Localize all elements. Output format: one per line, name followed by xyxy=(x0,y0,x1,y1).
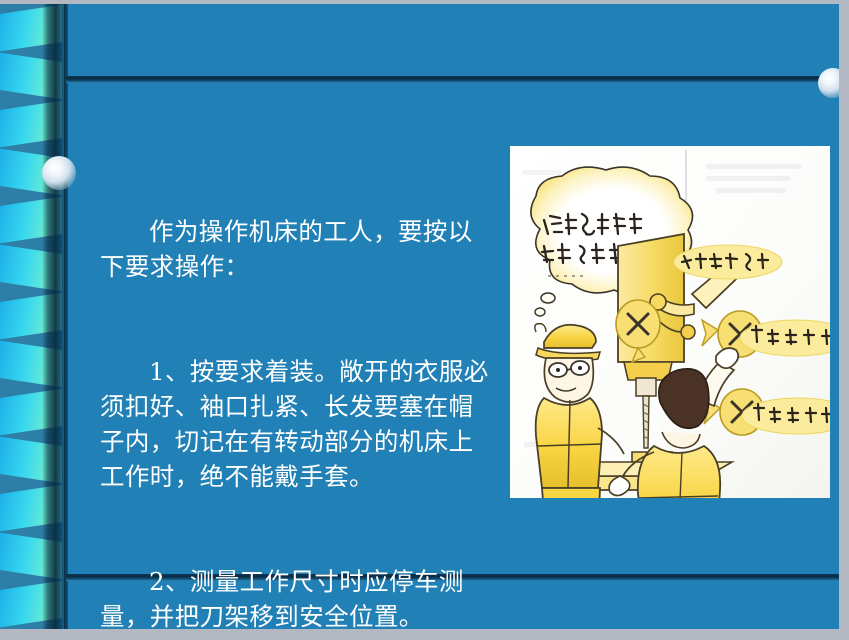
paragraph-rule-1: 1、按要求着装。敞开的衣服必须扣好、袖口扎紧、长发要塞在帽子内，切记在有转动部分… xyxy=(100,354,496,494)
ribbon-edge-line xyxy=(64,4,68,629)
left-orb-decoration xyxy=(42,156,76,190)
slide-body-text: 作为操作机床的工人，要按以下要求操作： 1、按要求着装。敞开的衣服必须扣好、袖口… xyxy=(100,144,496,629)
slide-page: 作为操作机床的工人，要按以下要求操作： 1、按要求着装。敞开的衣服必须扣好、袖口… xyxy=(0,0,849,640)
paragraph-intro: 作为操作机床的工人，要按以下要求操作： xyxy=(100,214,496,284)
top-divider-rule xyxy=(66,76,839,83)
safety-cartoon-image xyxy=(510,146,830,498)
callout-label-hat xyxy=(674,245,782,279)
paragraph-rule-2: 2、测量工作尺寸时应停车测量，并把刀架移到安全位置。 xyxy=(100,564,496,629)
right-orb-decoration xyxy=(818,68,839,98)
cartoon-illustration xyxy=(510,146,830,498)
presentation-slide: 作为操作机床的工人，要按以下要求操作： 1、按要求着装。敞开的衣服必须扣好、袖口… xyxy=(0,4,839,629)
